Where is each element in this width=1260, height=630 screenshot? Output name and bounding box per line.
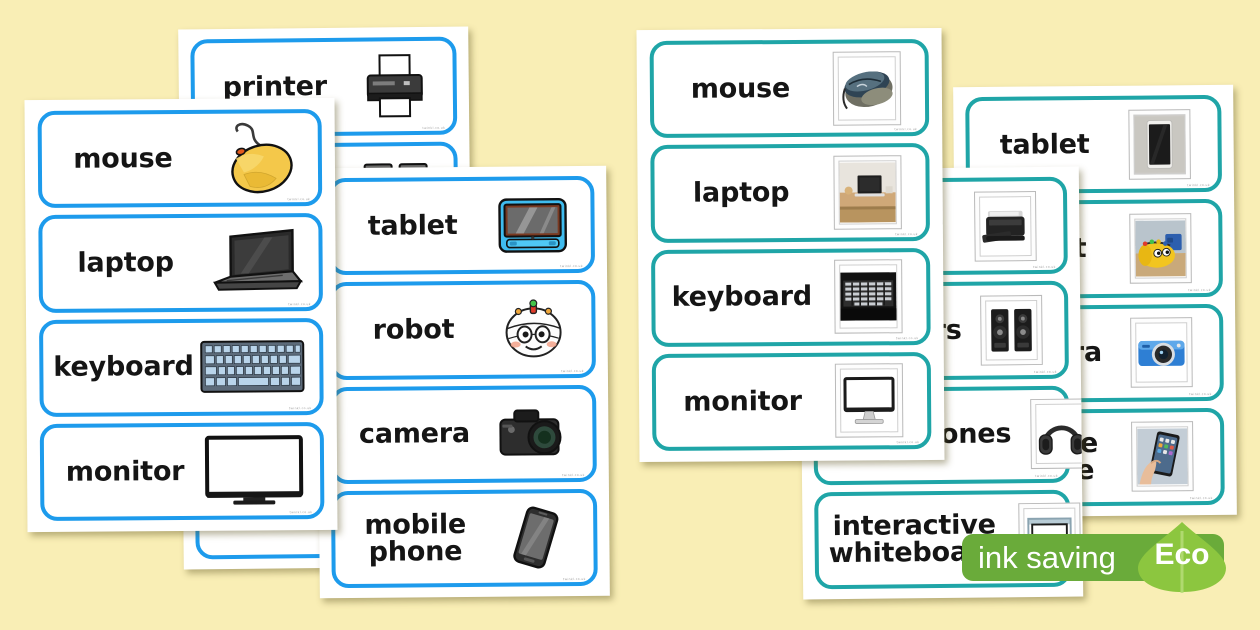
word-card-label: mobile phone: [345, 511, 489, 567]
word-card-sheet-photo-main[interactable]: mouse: [636, 28, 944, 462]
watermark: twinkl.co.uk: [289, 406, 312, 410]
watermark: twinkl.co.uk: [896, 336, 919, 340]
word-card[interactable]: laptop twinkl.co.uk: [38, 213, 323, 312]
tablet-photo: [1113, 105, 1206, 184]
monitor-photo: [823, 362, 916, 441]
camera-photo: [1115, 313, 1208, 392]
photo-frame: [1130, 317, 1193, 388]
watermark: twinkl.co.uk: [1034, 369, 1057, 373]
mouse-photo: [821, 49, 914, 128]
word-card[interactable]: mouse: [650, 39, 930, 138]
watermark: twinkl.co.uk: [1190, 496, 1213, 500]
word-card[interactable]: mobile phone twinkl.co.uk: [331, 489, 598, 589]
word-card-label: tablet: [343, 212, 487, 241]
word-card-label: camera: [344, 420, 488, 449]
speakers-photo: [965, 291, 1058, 370]
word-card[interactable]: camera twinkl.co.uk: [330, 384, 597, 484]
watermark: twinkl.co.uk: [288, 302, 311, 306]
eco-label: Eco: [1130, 540, 1234, 570]
photo-frame: [974, 191, 1037, 262]
word-card-label: laptop: [665, 179, 822, 208]
mouse-icon: [198, 119, 307, 198]
watermark: twinkl.co.uk: [1188, 287, 1211, 291]
laptop-icon: [202, 223, 307, 302]
watermark: twinkl.co.uk: [1033, 265, 1056, 269]
tablet-icon: [486, 186, 579, 265]
photo-frame: [835, 364, 904, 438]
watermark: twinkl.co.uk: [894, 127, 917, 131]
watermark: twinkl.co.uk: [563, 577, 586, 581]
photo-frame: [980, 295, 1043, 366]
word-card-label: monitor: [666, 387, 823, 416]
camera-icon: [488, 394, 581, 473]
watermark: twinkl.co.uk: [562, 473, 585, 477]
poster-canvas: printer twinkl.co.uk speakers: [0, 0, 1260, 630]
watermark: twinkl.co.uk: [290, 510, 313, 514]
word-card-label: keyboard: [53, 353, 197, 382]
watermark: twinkl.co.uk: [287, 197, 310, 201]
watermark: twinkl.co.uk: [1189, 392, 1212, 396]
word-card-label: robot: [343, 316, 487, 345]
photo-frame: [834, 259, 903, 333]
watermark: twinkl.co.uk: [422, 126, 445, 130]
word-card[interactable]: monitor twi: [652, 352, 932, 451]
word-card-label: keyboard: [665, 283, 822, 312]
word-card-label: laptop: [53, 249, 203, 278]
word-card-label: monitor: [54, 457, 200, 486]
word-card[interactable]: robot: [329, 280, 596, 380]
watermark: twinkl.co.uk: [560, 264, 583, 268]
photo-frame: [1129, 213, 1192, 284]
word-card[interactable]: keyboard: [651, 248, 931, 347]
keyboard-photo: [822, 257, 915, 336]
word-card-sheet-clipart-2[interactable]: tablet twinkl.co.uk: [316, 166, 610, 599]
printer-photo: [959, 186, 1052, 265]
monitor-icon: [200, 431, 309, 510]
ink-saving-eco-badge: ink saving Eco: [962, 521, 1260, 593]
printer-icon: [348, 47, 441, 126]
photo-frame: [833, 51, 902, 125]
word-card-label: mouse: [52, 145, 198, 174]
word-card[interactable]: laptop: [650, 143, 930, 242]
watermark: twinkl.co.uk: [1035, 474, 1058, 478]
word-card[interactable]: monitor twinkl.co.uk: [40, 422, 325, 521]
robot-icon: [487, 290, 580, 369]
word-card-label: mouse: [664, 75, 821, 104]
photo-frame: [1128, 109, 1191, 180]
word-card[interactable]: mouse twinkl.co.uk: [38, 109, 323, 208]
watermark: twinkl.co.uk: [1187, 183, 1210, 187]
photo-frame: [833, 155, 902, 229]
headphones-photo: [1015, 394, 1083, 473]
mobile-phone-icon: [489, 498, 582, 577]
watermark: twinkl.co.uk: [561, 368, 584, 372]
word-card-sheet-clipart-main[interactable]: mouse twinkl.co.uk laptop: [24, 98, 337, 532]
word-card-label: tablet: [980, 131, 1114, 160]
eco-leaf: Eco: [1130, 521, 1234, 593]
watermark: twinkl.co.uk: [895, 232, 918, 236]
ink-saving-label: ink saving: [978, 542, 1116, 573]
mobile-phone-photo: [1116, 417, 1209, 496]
word-card[interactable]: keyboard: [39, 318, 324, 417]
photo-frame: [1131, 422, 1194, 493]
laptop-photo: [821, 153, 914, 232]
keyboard-icon: [197, 327, 308, 406]
watermark: twinkl.co.uk: [897, 440, 920, 444]
word-card[interactable]: tablet twinkl.co.uk: [328, 176, 595, 276]
photo-frame: [1030, 399, 1083, 470]
robot-photo: [1114, 209, 1207, 288]
